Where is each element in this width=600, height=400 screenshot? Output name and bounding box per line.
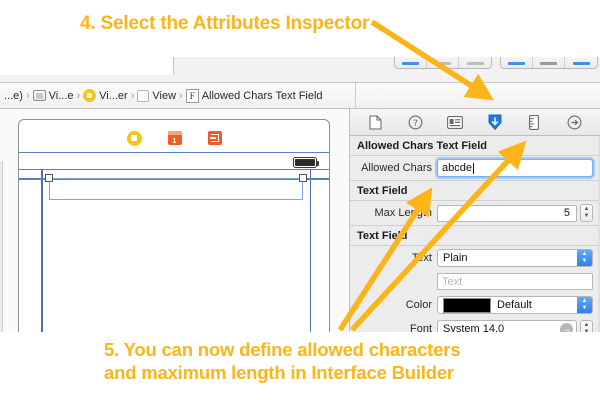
jump-bar: ...e) › Vi...e › Vi...er › View › F Allo… (0, 83, 600, 109)
breadcrumb-label: ...e) (4, 90, 23, 102)
attributes-inspector-icon[interactable] (482, 111, 508, 133)
color-swatch[interactable] (443, 298, 491, 313)
scene-dock: 1 (19, 124, 329, 152)
breadcrumb-label: Vi...er (99, 90, 128, 102)
layout-guide-left (41, 170, 43, 332)
version-editor-button[interactable] (459, 57, 491, 68)
jumpbar-divider (355, 83, 356, 108)
breadcrumb-item-text-field[interactable]: F Allowed Chars Text Field (184, 89, 325, 103)
first-responder-cube-icon[interactable]: 1 (168, 131, 182, 145)
breadcrumb-label: View (152, 90, 176, 102)
annotation-step-5: 5. You can now define allowed characters… (104, 338, 574, 384)
row-max-length: Max Length 5 ▲▼ (350, 201, 600, 225)
annotation-step-5-line2: and maximum length in Interface Builder (104, 361, 574, 384)
editor-tab-shape (0, 57, 174, 75)
text-field-icon: F (186, 89, 199, 103)
row-font: Font System 14.0 → ▲▼ (350, 317, 600, 332)
text-style-value: Plain (443, 252, 467, 264)
breadcrumb-item-project[interactable]: ...e) (2, 90, 25, 102)
identity-inspector-icon[interactable] (442, 111, 468, 133)
breadcrumb-item-view[interactable]: View (135, 90, 178, 102)
view-icon (137, 90, 149, 102)
view-controller-scene[interactable]: 1 (18, 119, 330, 332)
view-controller-icon[interactable] (127, 131, 142, 146)
toggle-navigator-button[interactable] (501, 57, 533, 68)
max-length-label: Max Length (350, 207, 432, 219)
navigator-edge (0, 161, 3, 332)
selected-text-field[interactable] (49, 178, 303, 200)
utilities-inspector-panel: ? Allowed Chars Text Field Allowed Chars (349, 109, 600, 332)
connections-inspector-icon[interactable] (561, 111, 587, 133)
font-picker-icon[interactable]: → (560, 323, 573, 333)
status-bar (19, 152, 329, 170)
chevron-right-icon: › (131, 90, 135, 102)
breadcrumb-item-view-controller[interactable]: Vi...er (81, 89, 130, 102)
font-field[interactable]: System 14.0 → (437, 320, 577, 332)
exit-icon[interactable] (208, 131, 222, 145)
size-inspector-icon[interactable] (521, 111, 547, 133)
xcode-toolbar (0, 57, 600, 83)
assistant-editor-button[interactable] (427, 57, 459, 68)
section-header-text-field: Text Field (350, 225, 600, 246)
quick-help-inspector-icon[interactable]: ? (402, 111, 428, 133)
storyboard-icon (33, 90, 46, 101)
add-attribute-icon[interactable]: + (354, 300, 361, 314)
annotation-step-5-line1: 5. You can now define allowed characters (104, 338, 574, 361)
breadcrumb: ...e) › Vi...e › Vi...er › View › F Allo… (0, 83, 325, 108)
text-caret (473, 163, 474, 174)
max-length-input[interactable]: 5 (437, 205, 577, 222)
toggle-debug-area-button[interactable] (533, 57, 565, 68)
xcode-window: ...e) › Vi...e › Vi...er › View › F Allo… (0, 57, 600, 332)
chevron-right-icon: › (77, 90, 81, 102)
text-label: Text (350, 252, 432, 264)
max-length-stepper[interactable]: ▲▼ (580, 204, 593, 222)
chevron-updown-icon: ▲▼ (577, 297, 592, 313)
breadcrumb-item-storyboard[interactable]: Vi...e (31, 90, 76, 102)
section-header-allowed-chars: Allowed Chars Text Field (350, 136, 600, 156)
view-controller-icon (83, 89, 96, 102)
inspector-tab-bar: ? (350, 109, 600, 136)
standard-editor-button[interactable] (395, 57, 427, 68)
font-size-stepper[interactable]: ▲▼ (580, 320, 593, 332)
allowed-chars-input[interactable]: abcde (437, 159, 593, 177)
row-color: Color Default ▲▼ (350, 293, 600, 317)
font-label: Font (350, 323, 432, 332)
row-text-value: Text (350, 270, 600, 293)
resize-handle-left[interactable] (45, 174, 53, 182)
text-style-popup[interactable]: Plain ▲▼ (437, 249, 593, 267)
chevron-right-icon: › (179, 90, 183, 102)
allowed-chars-label: Allowed Chars (350, 162, 432, 174)
font-value: System 14.0 (443, 323, 504, 332)
editor-mode-segmented-control[interactable] (394, 57, 492, 69)
chevron-right-icon: › (26, 90, 30, 102)
row-text-style: Text Plain ▲▼ (350, 246, 600, 270)
color-label: Color (350, 299, 432, 311)
toggle-utilities-button[interactable] (565, 57, 597, 68)
svg-text:?: ? (413, 119, 418, 129)
breadcrumb-label: Vi...e (49, 90, 74, 102)
text-value-input[interactable]: Text (437, 273, 593, 290)
allowed-chars-value: abcde (442, 162, 472, 174)
view-toggle-segmented-control[interactable] (500, 57, 598, 69)
inspector-content: Allowed Chars Text Field Allowed Chars a… (350, 136, 600, 332)
interface-builder-canvas[interactable]: 1 (0, 109, 348, 332)
resize-handle-right[interactable] (299, 174, 307, 182)
color-value: Default (497, 299, 532, 311)
color-popup[interactable]: Default ▲▼ (437, 296, 593, 314)
row-allowed-chars: Allowed Chars abcde (350, 156, 600, 180)
annotation-step-4: 4. Select the Attributes Inspector (80, 12, 369, 36)
file-inspector-icon[interactable] (363, 111, 389, 133)
chevron-updown-icon: ▲▼ (577, 250, 592, 266)
battery-icon (293, 157, 317, 168)
section-header-text-field-max: Text Field (350, 180, 600, 201)
layout-guide-right (310, 170, 312, 332)
breadcrumb-label: Allowed Chars Text Field (202, 90, 323, 102)
